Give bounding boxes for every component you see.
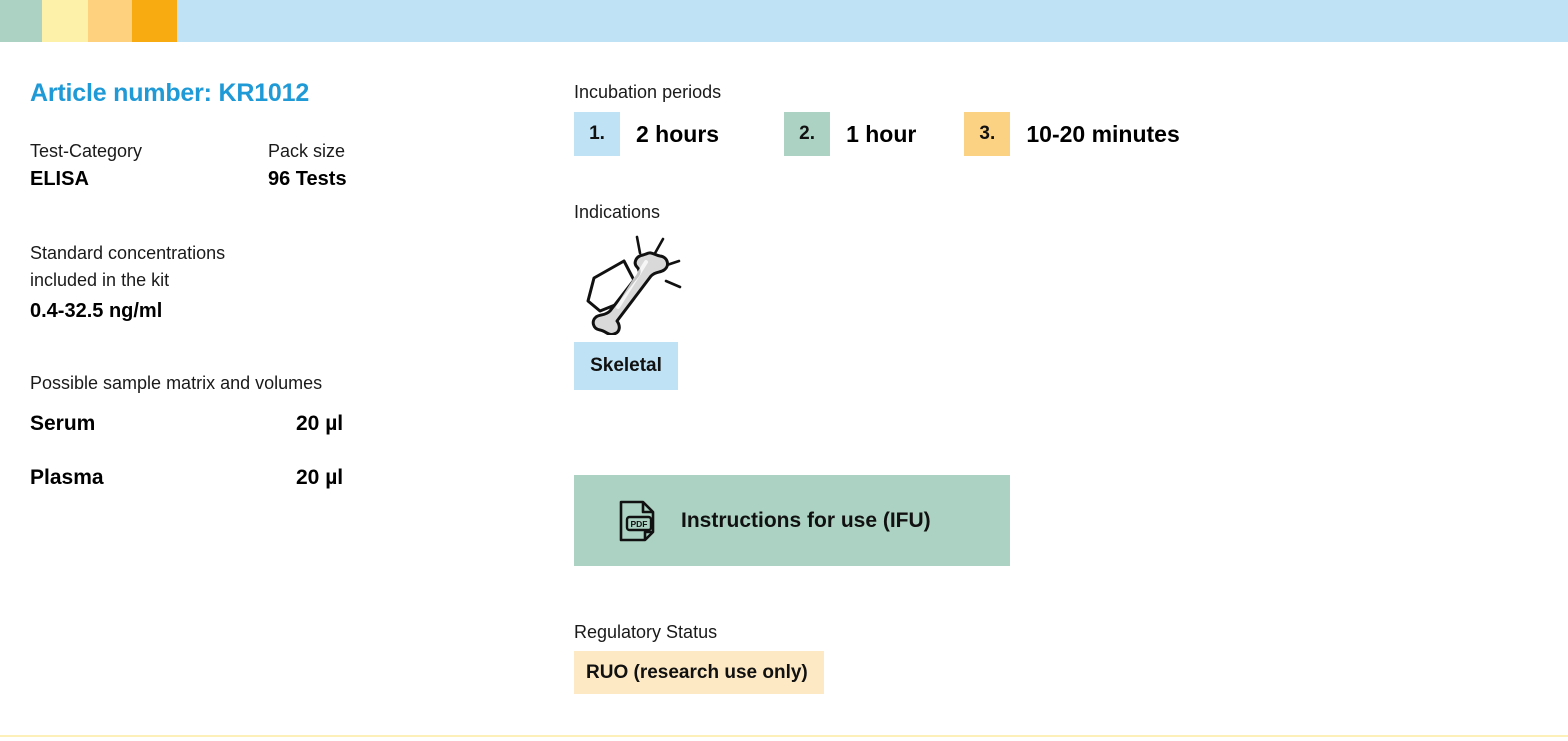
spacer [916,112,964,156]
standard-concentrations-label-line1: Standard concentrations [30,240,550,267]
incubation-step-3: 3. 10-20 minutes [964,112,1179,156]
regulatory-status-label: Regulatory Status [574,622,1534,643]
incubation-step-number: 3. [964,112,1010,156]
pack-size-block: Pack size 96 Tests [268,139,347,194]
matrix-volume: 20 µl [296,466,343,490]
instructions-for-use-label: Instructions for use (IFU) [681,509,931,533]
incubation-periods-label: Incubation periods [574,82,1534,103]
indications-section: Indications [574,202,1534,390]
left-column: Article number: KR1012 Test-Category ELI… [30,42,550,520]
color-bar-segment-light-blue [177,0,1568,42]
sample-matrix-heading: Possible sample matrix and volumes [30,371,550,395]
indication-badge-skeletal: Skeletal [574,342,678,390]
matrix-name: Plasma [30,466,104,490]
standard-concentrations-value: 0.4-32.5 ng/ml [30,297,550,326]
matrix-row-serum: Serum 20 µl [30,412,550,466]
pack-size-value: 96 Tests [268,165,347,194]
instructions-for-use-button[interactable]: PDF Instructions for use (IFU) [574,475,1010,566]
incubation-periods-section: Incubation periods 1. 2 hours 2. 1 hour … [574,82,1534,156]
matrix-volume: 20 µl [296,412,343,436]
standard-concentrations-label-line2: included in the kit [30,267,550,294]
incubation-step-duration: 10-20 minutes [1010,121,1179,148]
svg-text:PDF: PDF [631,519,648,529]
top-color-bar [0,0,1568,42]
spacer [719,112,784,156]
incubation-step-duration: 1 hour [830,121,916,148]
standard-concentrations-block: Standard concentrations included in the … [30,240,550,327]
matrix-name: Serum [30,412,95,436]
footer-divider [0,735,1568,737]
pack-size-label: Pack size [268,139,347,163]
color-bar-segment-orange [132,0,177,42]
test-category-value: ELISA [30,165,142,194]
page-title: Article number: KR1012 [30,80,550,108]
pdf-file-icon: PDF [619,500,655,542]
matrix-row-plasma: Plasma 20 µl [30,466,550,520]
test-category-block: Test-Category ELISA [30,139,142,194]
incubation-step-number: 1. [574,112,620,156]
incubation-steps-list: 1. 2 hours 2. 1 hour 3. 10-20 minutes [574,112,1534,156]
product-datasheet: Article number: KR1012 Test-Category ELI… [0,42,1568,741]
incubation-step-duration: 2 hours [620,121,719,148]
color-bar-segment-light-orange [88,0,132,42]
color-bar-segment-green [0,0,42,42]
right-column: Incubation periods 1. 2 hours 2. 1 hour … [574,42,1534,694]
status-badge: RUO (research use only) [574,651,824,694]
test-category-label: Test-Category [30,139,142,163]
sample-matrix-block: Possible sample matrix and volumes Serum… [30,371,550,519]
incubation-step-number: 2. [784,112,830,156]
indications-label: Indications [574,202,1534,223]
incubation-step-1: 1. 2 hours [574,112,719,156]
category-packsize-row: Test-Category ELISA Pack size 96 Tests [30,139,550,199]
color-bar-segment-light-yellow [42,0,88,42]
regulatory-status-section: Regulatory Status RUO (research use only… [574,622,1534,694]
bone-icon [580,231,690,335]
incubation-step-2: 2. 1 hour [784,112,916,156]
